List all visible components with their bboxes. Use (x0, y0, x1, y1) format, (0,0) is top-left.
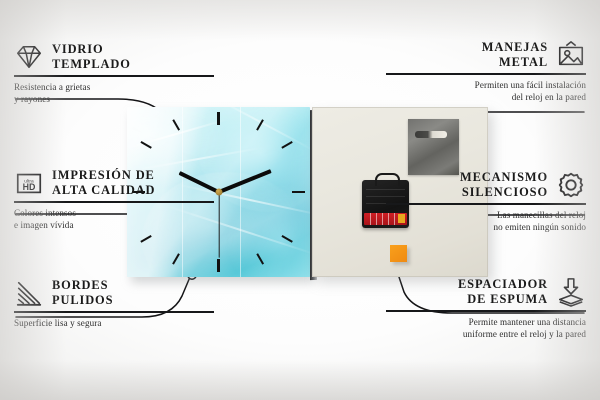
feature-title-line1: ESPACIADOR (458, 277, 548, 292)
feature-title-line2: TEMPLADO (52, 57, 131, 72)
feature-desc-line2: y rayones (14, 93, 214, 105)
feature-rule (14, 201, 214, 203)
second-hand (218, 192, 219, 258)
feature-title-line1: MANEJAS (482, 40, 548, 55)
feature-vidrio-templado: VIDRIO TEMPLADO Resistencia a grietas y … (14, 42, 214, 105)
feature-desc-line1: Las manecillas del reloj (386, 209, 586, 221)
feature-desc-line2: uniforme entre el reloj y la pared (386, 328, 586, 340)
feature-espaciador-espuma: ESPACIADOR DE ESPUMA Permite mantener un… (386, 277, 586, 340)
feature-desc-line2: e imagen vívida (14, 219, 214, 231)
diamond-icon (14, 42, 44, 72)
ultra-hd-icon: ultra HD (14, 168, 44, 198)
feature-title-line1: IMPRESIÓN DE (52, 168, 155, 183)
metal-hanger-plate (408, 119, 459, 175)
feature-rule (14, 311, 214, 313)
feature-desc-line1: Superficie lisa y segura (14, 317, 214, 329)
feature-desc-line2: no emiten ningún sonido (386, 221, 586, 233)
feature-desc-line1: Resistencia a grietas (14, 81, 214, 93)
foam-spacer-pad (390, 245, 407, 262)
feature-title-line2: METAL (482, 55, 548, 70)
feature-desc-line1: Colores intensos (14, 207, 214, 219)
feature-mecanismo-silencioso: MECANISMO SILENCIOSO Las manecillas del … (386, 170, 586, 233)
polished-edge-icon (14, 278, 44, 308)
feature-desc-line1: Permiten una fácil instalación (386, 79, 586, 91)
svg-text:HD: HD (23, 182, 36, 192)
feature-title-line1: BORDES (52, 278, 113, 293)
feature-title-line2: PULIDOS (52, 293, 113, 308)
feature-rule (386, 73, 586, 75)
hand-center-cap (215, 189, 222, 196)
feature-title-line2: SILENCIOSO (460, 185, 548, 200)
feature-rule (14, 75, 214, 77)
feature-bordes-pulidos: BORDES PULIDOS Superficie lisa y segura (14, 278, 214, 329)
infographic-canvas: VIDRIO TEMPLADO Resistencia a grietas y … (0, 0, 600, 400)
feature-title-line2: DE ESPUMA (458, 292, 548, 307)
feature-title-line1: MECANISMO (460, 170, 548, 185)
foam-spacer-arrow-icon (556, 277, 586, 307)
feature-title-line2: ALTA CALIDAD (52, 183, 155, 198)
picture-frame-hanger-icon (556, 40, 586, 70)
feature-manejas-metal: MANEJAS METAL Permiten una fácil instala… (386, 40, 586, 103)
feature-impresion-alta-calidad: ultra HD IMPRESIÓN DE ALTA CALIDAD Color… (14, 168, 214, 231)
feature-desc-line1: Permite mantener una distancia (386, 316, 586, 328)
feature-rule (386, 310, 586, 312)
feature-desc-line2: del reloj en la pared (386, 91, 586, 103)
gear-icon (556, 170, 586, 200)
feature-rule (386, 203, 586, 205)
feature-title-line1: VIDRIO (52, 42, 131, 57)
